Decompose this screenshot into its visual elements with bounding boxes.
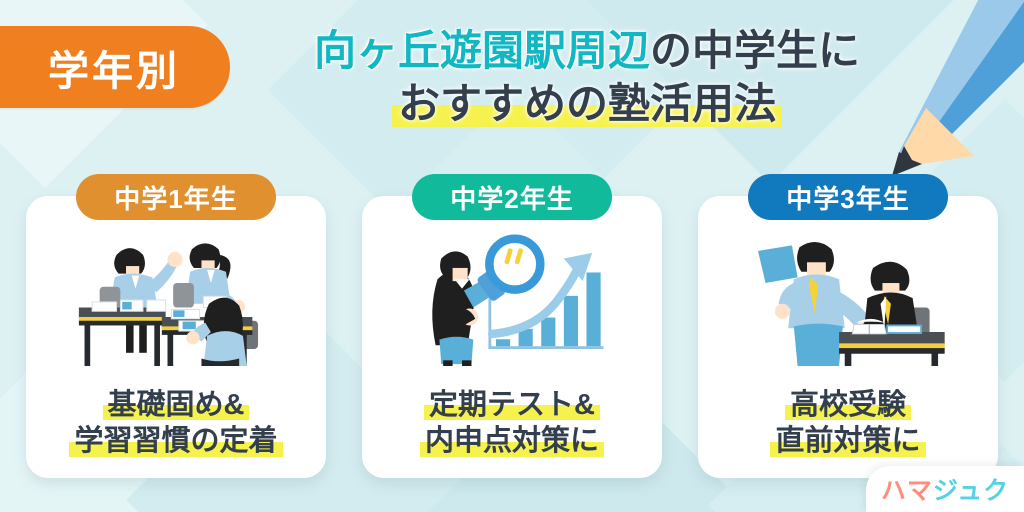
site-logo-text: ハマジュク xyxy=(881,471,1009,507)
infographic-banner: 学年別 向ヶ丘遊園駅周辺の中学生に おすすめの塾活用法 中学1年生 xyxy=(0,0,1024,512)
site-logo-text-part-b: ジュク xyxy=(933,477,1009,505)
grade-card-1-badge-label: 中学1年生 xyxy=(114,179,237,216)
grade-card-2[interactable]: 中学2年生 xyxy=(362,196,662,478)
site-logo-text-part-a: ハマ xyxy=(881,477,933,505)
grade-card-2-caption-line-2: 内申点対策に xyxy=(425,423,599,460)
page-title-line-2: おすすめの塾活用法 xyxy=(398,79,776,129)
grade-card-2-caption-line-1: 定期テスト& xyxy=(429,387,595,424)
site-logo[interactable]: ハマジュク xyxy=(866,466,1024,512)
grade-card-3-caption: 高校受験 直前対策に xyxy=(698,387,998,460)
grade-card-1[interactable]: 中学1年生 xyxy=(26,196,326,478)
grade-card-2-caption: 定期テスト& 内申点対策に xyxy=(362,387,662,460)
three-students-at-desks-icon xyxy=(61,234,291,366)
grade-card-3-caption-line-2: 直前対策に xyxy=(775,423,920,460)
grade-card-2-badge: 中学2年生 xyxy=(412,174,612,220)
grade-category-badge-label: 学年別 xyxy=(10,37,180,97)
grade-card-1-caption-line-2: 学習習慣の定着 xyxy=(74,423,277,460)
page-title: 向ヶ丘遊園駅周辺の中学生に おすすめの塾活用法 xyxy=(252,26,922,129)
grade-card-1-caption: 基礎固め& 学習習慣の定着 xyxy=(26,387,326,460)
grade-card-1-badge: 中学1年生 xyxy=(76,174,276,220)
grade-card-3-illustration xyxy=(698,234,998,366)
grade-card-3-caption-line-1: 高校受験 xyxy=(790,387,906,424)
grade-card-3-badge: 中学3年生 xyxy=(748,174,948,220)
page-title-line-1: 向ヶ丘遊園駅周辺の中学生に xyxy=(252,26,922,76)
page-title-line-2-text: おすすめの塾活用法 xyxy=(398,80,776,127)
magnifier-growth-chart-icon xyxy=(412,234,612,366)
grade-category-badge: 学年別 xyxy=(0,26,230,108)
grade-card-3-badge-label: 中学3年生 xyxy=(786,179,909,216)
grade-card-1-illustration xyxy=(26,234,326,366)
grade-card-2-badge-label: 中学2年生 xyxy=(450,179,573,216)
page-title-line-1-suffix: の中学生に xyxy=(650,27,860,74)
grade-card-1-caption-line-1: 基礎固め& xyxy=(108,387,245,424)
page-title-line-1-highlighted: 向ヶ丘遊園駅周辺 xyxy=(314,27,650,74)
teacher-and-student-icon xyxy=(741,234,956,366)
grade-card-3[interactable]: 中学3年生 xyxy=(698,196,998,478)
grade-card-2-illustration xyxy=(362,234,662,366)
